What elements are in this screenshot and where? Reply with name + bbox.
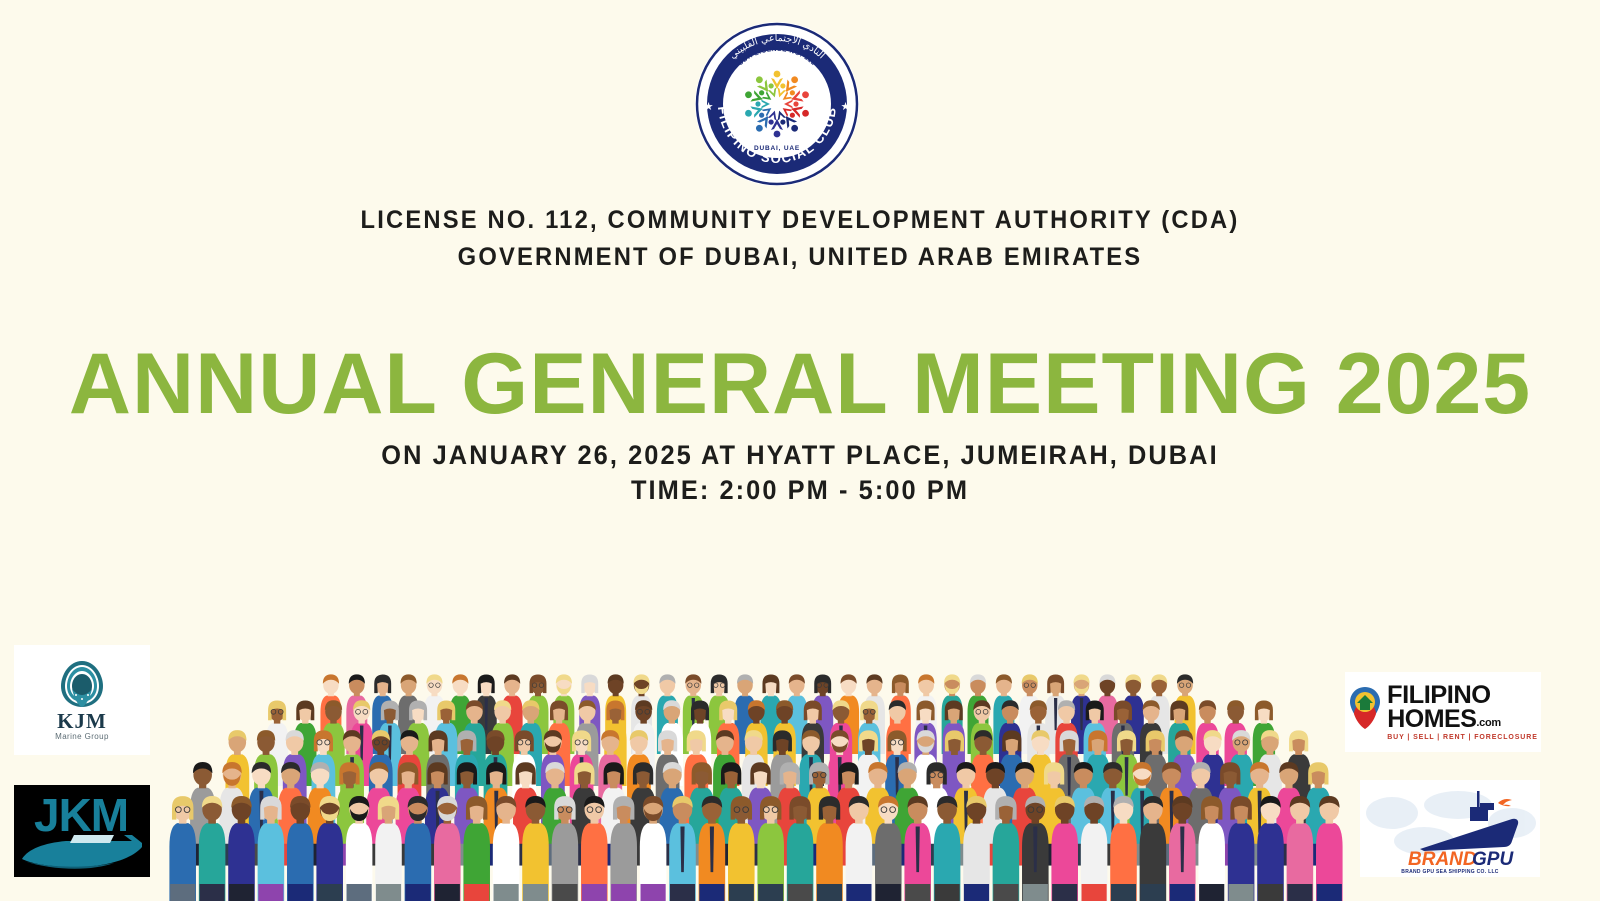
crowd-illustration-icon [168, 636, 1344, 901]
sponsor-logo-filipino-homes: FILIPINO HOMES .com BUY | SELL | RENT | … [1345, 672, 1541, 752]
map-pin-house-icon [1348, 686, 1382, 730]
crowd-of-people-illustration [168, 636, 1344, 901]
kjm-shell-emblem-icon [59, 659, 105, 709]
filipino-homes-line2: HOMES [1387, 707, 1476, 731]
sponsor-logo-kjm-marine: KJM Marine Group [14, 645, 150, 755]
license-line-2: GOVERNMENT OF DUBAI, UNITED ARAB EMIRATE… [40, 239, 1560, 276]
event-time: TIME: 2:00 PM - 5:00 PM [48, 473, 1552, 508]
page-title: ANNUAL GENERAL MEETING 2025 [0, 336, 1600, 432]
filipino-social-club-seal-icon: النادي الاجتماعي الفلبيني FILIPINO SOCIA… [692, 18, 862, 190]
speedboat-icon: JKM [14, 785, 150, 877]
organization-logo: النادي الاجتماعي الفلبيني FILIPINO SOCIA… [692, 18, 862, 190]
event-details: ON JANUARY 26, 2025 AT HYATT PLACE, JUME… [0, 438, 1600, 508]
kjm-name: KJM [57, 710, 107, 732]
license-text: LICENSE NO. 112, COMMUNITY DEVELOPMENT A… [0, 202, 1600, 276]
filipino-homes-tagline: BUY | SELL | RENT | FORECLOSURE [1387, 734, 1538, 741]
svg-text:DUBAI, UAE: DUBAI, UAE [754, 145, 800, 152]
sponsor-logo-jkm-boat: JKM [14, 785, 150, 877]
svg-text:GPU: GPU [1472, 849, 1514, 870]
filipino-homes-line1: FILIPINO [1387, 683, 1541, 707]
brand-gpu-tagline: BRAND GPU SEA SHIPPING CO. LLC [1401, 869, 1499, 875]
sponsor-logo-brand-gpu: BRAND GPU BRAND GPU SEA SHIPPING CO. LLC [1360, 780, 1540, 877]
event-date-venue: ON JANUARY 26, 2025 AT HYATT PLACE, JUME… [48, 438, 1552, 473]
filipino-homes-suffix: .com [1476, 717, 1500, 729]
license-line-1: LICENSE NO. 112, COMMUNITY DEVELOPMENT A… [40, 202, 1560, 239]
kjm-tagline: Marine Group [55, 732, 109, 741]
svg-text:BRAND: BRAND [1408, 849, 1477, 870]
svg-text:JKM: JKM [34, 789, 128, 841]
cargo-ship-icon: BRAND GPU BRAND GPU SEA SHIPPING CO. LLC [1362, 783, 1538, 875]
svg-text:★: ★ [841, 101, 851, 113]
svg-text:★: ★ [704, 101, 714, 113]
